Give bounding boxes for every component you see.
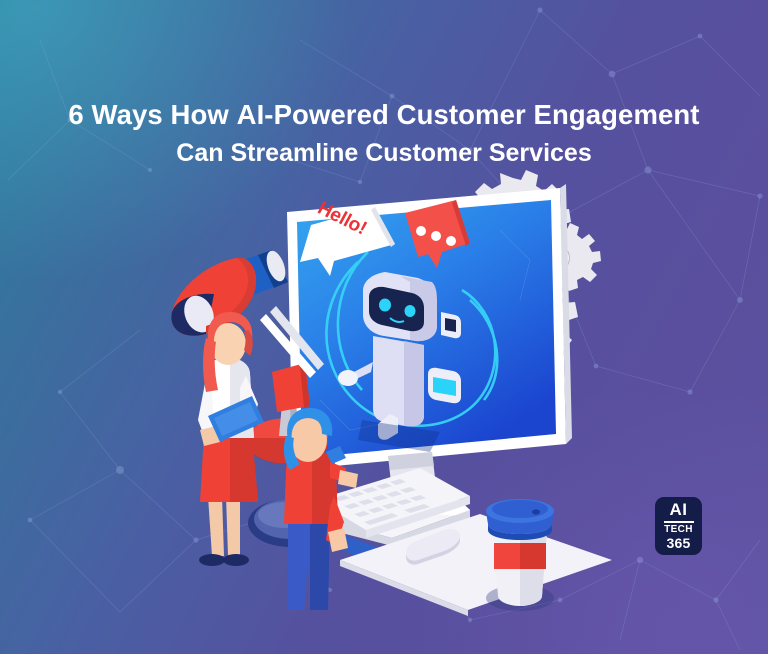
woman-shoe-left bbox=[199, 554, 225, 566]
woman-shoe-right bbox=[223, 554, 249, 566]
typing-dot-1 bbox=[416, 226, 426, 236]
coffee-cup bbox=[486, 499, 554, 611]
typing-dot-3 bbox=[446, 236, 456, 246]
title-line-1-bold: AI-Powered Customer Engagement bbox=[237, 99, 700, 130]
robot-eye-left bbox=[379, 299, 391, 312]
typing-dot-2 bbox=[431, 231, 441, 241]
ai-tech-365-logo: AI TECH 365 bbox=[655, 497, 702, 555]
logo-text-tech: TECH bbox=[664, 525, 693, 535]
title-line-1-regular: 6 Ways How bbox=[68, 99, 236, 130]
promotional-banner: 6 Ways How AI-Powered Customer Engagemen… bbox=[0, 0, 768, 654]
title-line-2: Can Streamline Customer Services bbox=[0, 139, 768, 167]
logo-text-365: 365 bbox=[667, 536, 691, 550]
logo-text-ai: AI bbox=[670, 501, 688, 518]
robot-eye-right bbox=[405, 305, 416, 317]
banner-title: 6 Ways How AI-Powered Customer Engagemen… bbox=[0, 100, 768, 167]
logo-divider bbox=[664, 521, 694, 523]
title-line-1: 6 Ways How AI-Powered Customer Engagemen… bbox=[0, 100, 768, 131]
